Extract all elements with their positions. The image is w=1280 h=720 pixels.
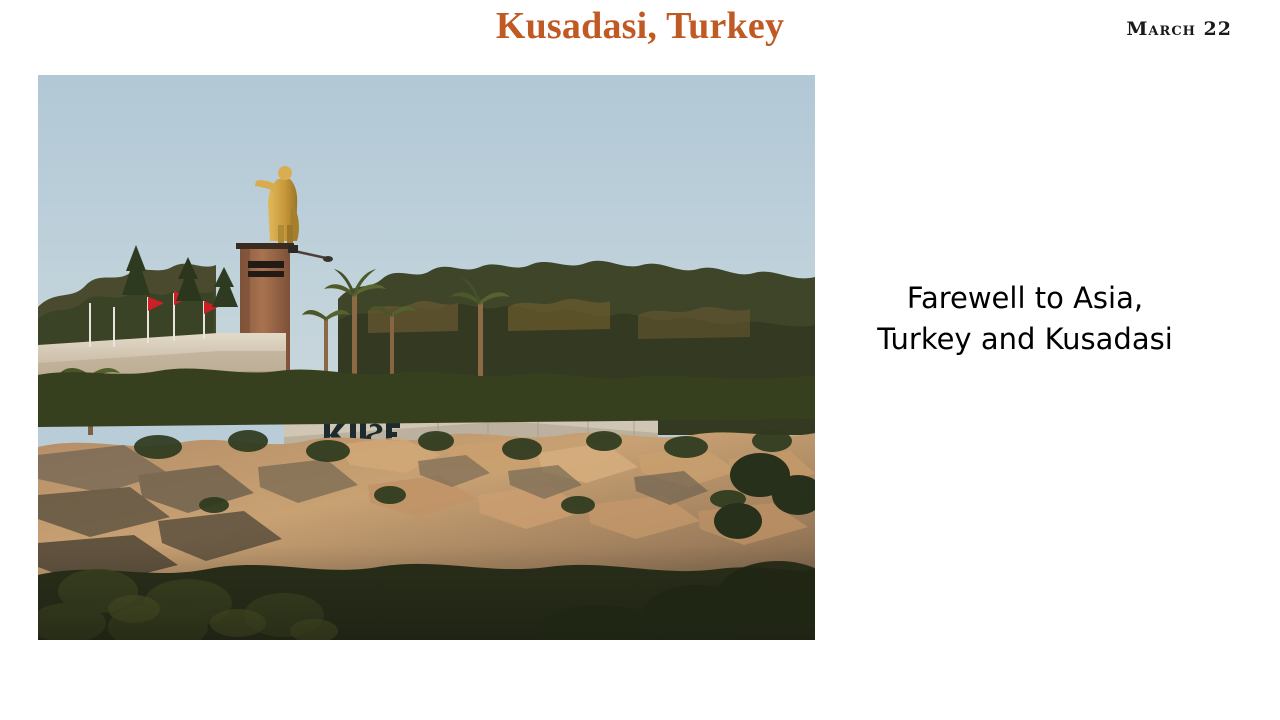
photo-kusadasi-hillside: KUŞADASI: [38, 75, 815, 640]
slide-date-label: March 22: [1126, 18, 1232, 40]
slide-caption: Farewell to Asia, Turkey and Kusadasi: [830, 278, 1220, 360]
caption-line-2: Turkey and Kusadasi: [830, 319, 1220, 360]
slide-canvas: Kusadasi, Turkey March 22: [0, 0, 1280, 720]
caption-line-1: Farewell to Asia,: [830, 278, 1220, 319]
page-title: Kusadasi, Turkey: [0, 4, 1280, 48]
photo-illustration: KUŞADASI: [38, 75, 815, 640]
